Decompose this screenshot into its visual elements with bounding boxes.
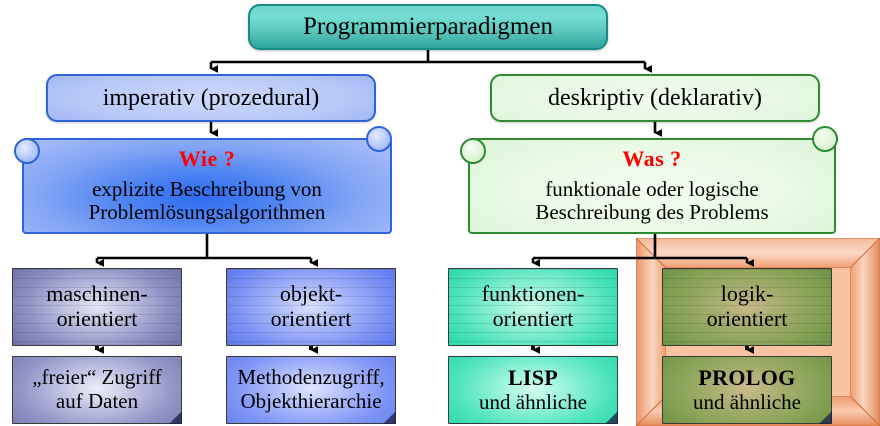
functional-line1: funktionen-: [482, 282, 585, 307]
node-descriptive[interactable]: deskriptiv (deklarativ): [490, 74, 820, 122]
node-lisp[interactable]: LISP und ähnliche: [448, 356, 618, 424]
imperative-desc-line1: explizite Beschreibung von: [92, 178, 322, 202]
node-method-access[interactable]: Methodenzugriff, Objekthierarchie: [226, 356, 396, 424]
machine-line1: maschinen-: [46, 282, 147, 307]
descriptive-label: deskriptiv (deklarativ): [548, 85, 762, 112]
node-object-oriented[interactable]: objekt- orientiert: [226, 268, 396, 346]
logic-line2: orientiert: [707, 307, 788, 332]
node-descriptive-scroll[interactable]: Was ? funktionale oder logische Beschrei…: [468, 138, 836, 234]
machine-line2: orientiert: [57, 307, 138, 332]
node-logic-oriented[interactable]: logik- orientiert: [662, 268, 832, 346]
prolog-name: PROLOG: [698, 366, 795, 391]
node-function-oriented[interactable]: funktionen- orientiert: [448, 268, 618, 346]
descriptive-desc-line1: funktionale oder logische: [545, 178, 758, 202]
method-access-line1: Methodenzugriff,: [237, 366, 384, 390]
node-imperative[interactable]: imperativ (prozedural): [46, 74, 376, 122]
node-free-access[interactable]: „freier“ Zugriff auf Daten: [12, 356, 182, 424]
diagram-canvas: Programmierparadigmen imperativ (prozedu…: [0, 0, 880, 426]
imperative-question: Wie ?: [179, 147, 235, 172]
node-title[interactable]: Programmierparadigmen: [248, 4, 608, 50]
imperative-desc-line2: Problemlösungsalgorithmen: [89, 201, 326, 225]
method-access-line2: Objekthierarchie: [240, 390, 381, 414]
node-machine-oriented[interactable]: maschinen- orientiert: [12, 268, 182, 346]
prolog-subtitle: und ähnliche: [693, 391, 801, 415]
node-prolog[interactable]: PROLOG und ähnliche: [662, 356, 832, 424]
object-line2: orientiert: [271, 307, 352, 332]
lisp-name: LISP: [508, 366, 558, 391]
title-label: Programmierparadigmen: [303, 13, 553, 41]
free-access-line2: auf Daten: [56, 390, 138, 414]
lisp-subtitle: und ähnliche: [479, 391, 587, 415]
free-access-line1: „freier“ Zugriff: [32, 366, 162, 390]
node-imperative-scroll[interactable]: Wie ? explizite Beschreibung von Problem…: [22, 138, 392, 234]
functional-line2: orientiert: [493, 307, 574, 332]
object-line1: objekt-: [280, 282, 342, 307]
descriptive-desc-line2: Beschreibung des Problems: [535, 201, 768, 225]
descriptive-question: Was ?: [622, 147, 681, 172]
logic-line1: logik-: [721, 282, 774, 307]
imperative-label: imperativ (prozedural): [103, 85, 320, 112]
